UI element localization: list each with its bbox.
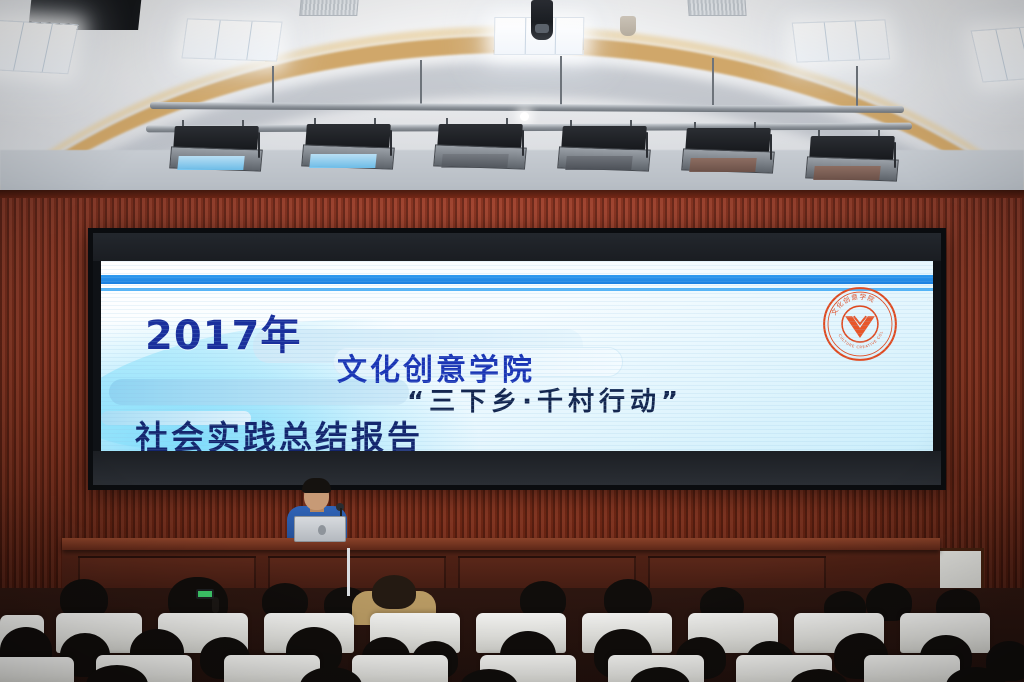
ceiling-panel-light	[181, 18, 282, 61]
podium-desktop-surface	[62, 538, 940, 550]
audience-arm	[212, 597, 219, 613]
ceiling-air-vent	[299, 0, 359, 16]
screen-bezel-bottom	[93, 451, 941, 485]
chair-cover	[864, 655, 960, 682]
stage-light	[432, 116, 528, 178]
truss-hanger	[712, 58, 714, 106]
slide-campaign-heading: “三下乡·千村行动”	[407, 381, 683, 418]
stage-light	[680, 120, 776, 182]
slide-top-accent-bar-thin	[101, 288, 933, 291]
stage-light	[556, 118, 652, 180]
screen-bezel-top	[93, 233, 941, 261]
slide-content: 2017年 文化创意学院 “三下乡·千村行动” 社会实践总结报告 汇报人：万义源…	[101, 261, 933, 451]
security-camera-icon	[531, 0, 553, 40]
ceiling-panel-light	[792, 19, 891, 62]
presentation-screen: 2017年 文化创意学院 “三下乡·千村行动” 社会实践总结报告 汇报人：万义源…	[88, 228, 946, 490]
slide-report-heading: 社会实践总结报告	[135, 411, 423, 451]
podium-cable	[347, 548, 350, 596]
truss-hanger	[560, 56, 562, 106]
smoke-detector-icon	[620, 16, 636, 36]
truss-hanger	[272, 66, 274, 106]
university-seal-logo: 文化创意学院 CULTURE CREATIVE COLLEGE	[821, 285, 899, 363]
audience-head	[372, 575, 416, 609]
apple-logo-icon	[318, 525, 326, 535]
chair-cover	[352, 655, 448, 682]
audience-seating	[0, 575, 1024, 682]
truss-hanger	[420, 60, 422, 106]
ceiling-panel-light	[0, 20, 79, 75]
stage-light	[300, 116, 396, 178]
stage-light	[804, 128, 900, 190]
stage-light	[168, 118, 264, 180]
slide-year-heading: 2017年	[145, 303, 301, 361]
chair-cover	[0, 657, 74, 682]
ceiling-air-vent	[687, 0, 746, 16]
presenter-laptop	[294, 516, 346, 542]
truss-hanger	[856, 66, 858, 108]
lecture-hall-scene: 2017年 文化创意学院 “三下乡·千村行动” 社会实践总结报告 汇报人：万义源…	[0, 0, 1024, 682]
presenter-hair	[302, 478, 331, 493]
smartphone-screen	[196, 589, 214, 599]
slide-top-accent-bar	[101, 275, 933, 284]
svg-text:文化创意学院: 文化创意学院	[829, 292, 877, 317]
